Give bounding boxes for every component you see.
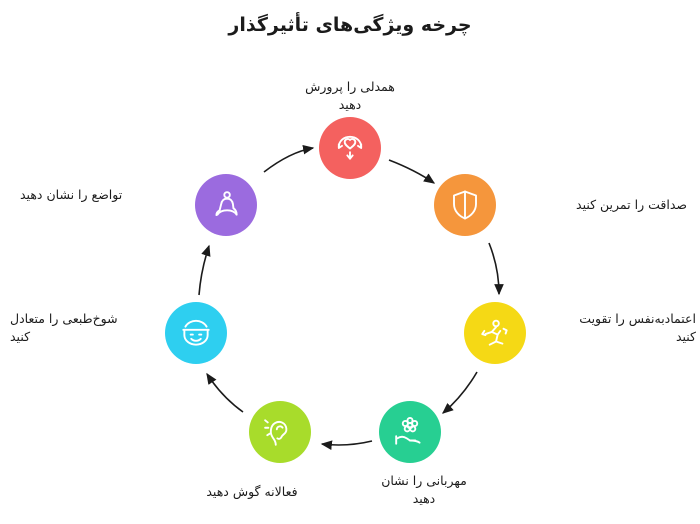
arrow-humility-empathy [264,148,313,172]
meditating-person-icon [209,188,243,222]
node-empathy[interactable] [319,117,381,179]
arrow-honesty-confidence [489,243,499,294]
smiling-face-icon [178,316,214,350]
heart-arrows-icon [333,131,367,165]
cycle-diagram: چرخه ویژگی‌های تأثیرگذار [0,0,700,524]
label-kindness: مهربانی را نشان دهید [349,472,499,508]
label-honesty: صداقت را تمرین کنید [527,196,687,214]
arrow-listening-humor [207,374,243,412]
label-humility: تواضع را نشان دهید [20,186,186,204]
node-confidence[interactable] [464,302,526,364]
person-flex-icon [478,316,512,350]
arrow-confidence-kindness [443,372,477,413]
hand-flower-icon [393,415,427,449]
node-honesty[interactable] [434,174,496,236]
arrow-empathy-honesty [389,160,434,183]
arrow-kindness-listening [322,441,372,445]
label-humor: شوخ‌طبعی را متعادل کنید [10,310,182,346]
label-confidence: اعتمادبه‌نفس را تقویت کنید [524,310,696,346]
arrow-humor-humility [199,246,209,295]
node-humility[interactable] [195,174,257,236]
page-title: چرخه ویژگی‌های تأثیرگذار [0,14,700,36]
shield-icon [449,188,481,222]
node-listening[interactable] [249,401,311,463]
ear-icon [263,415,297,449]
node-kindness[interactable] [379,401,441,463]
label-empathy: همدلی را پرورش دهید [265,78,435,114]
label-listening: فعالانه گوش دهید [172,483,332,501]
